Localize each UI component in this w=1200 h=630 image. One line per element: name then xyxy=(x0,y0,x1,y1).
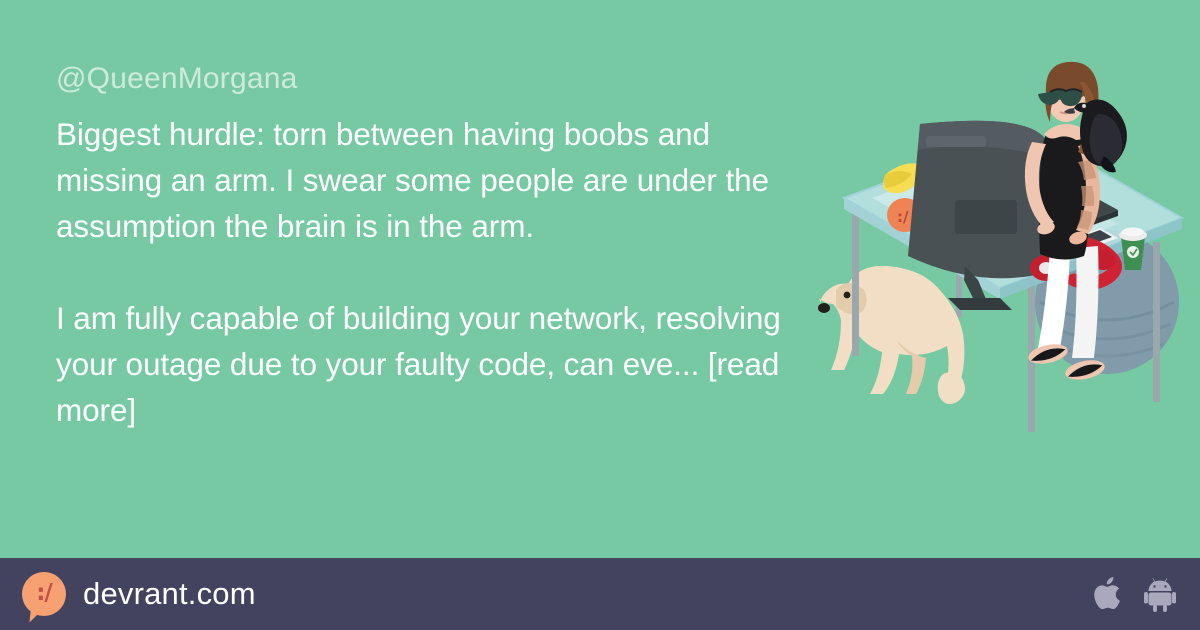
rant-paragraph-2[interactable]: I am fully capable of building your netw… xyxy=(56,295,816,433)
devrant-brand[interactable]: :/ devrant.com xyxy=(22,572,256,616)
devrant-wordmark: devrant.com xyxy=(83,576,256,612)
devrant-logo-icon: :/ xyxy=(22,572,66,616)
username-label[interactable]: @QueenMorgana xyxy=(56,62,816,95)
android-icon[interactable] xyxy=(1144,576,1176,612)
apple-icon[interactable] xyxy=(1090,576,1122,612)
dog-shape xyxy=(818,266,965,404)
rant-content: @QueenMorgana Biggest hurdle: torn betwe… xyxy=(56,62,816,433)
desk-scene-illustration: :/ xyxy=(800,52,1200,472)
app-store-badges xyxy=(1090,576,1176,612)
site-footer: :/ devrant.com xyxy=(0,558,1200,630)
rant-paragraph-1: Biggest hurdle: torn between having boob… xyxy=(56,111,816,249)
svg-text::/: :/ xyxy=(897,208,909,226)
logo-face-text: :/ xyxy=(36,582,52,605)
devrant-rant-card: @QueenMorgana Biggest hurdle: torn betwe… xyxy=(0,0,1200,630)
